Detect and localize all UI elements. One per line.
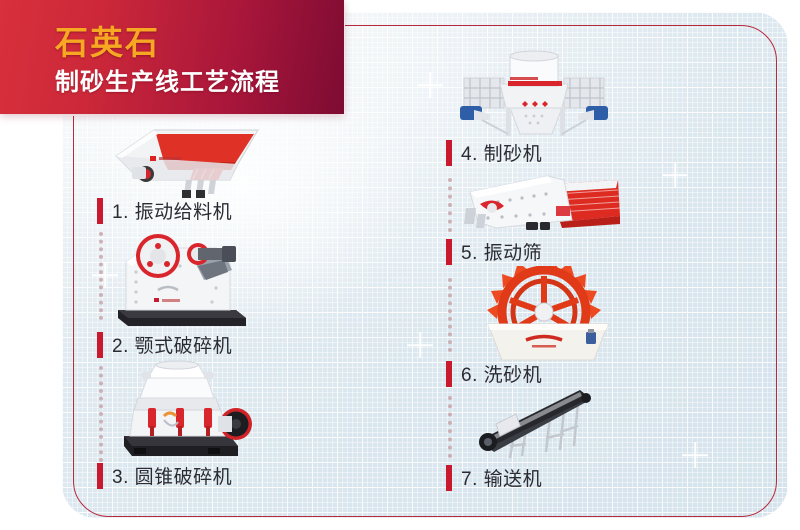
flow-step-label: 7. 输送机	[461, 464, 542, 491]
connector-line-left-2	[99, 366, 107, 462]
step-marker-icon	[446, 140, 452, 166]
machine-image-sand-washer	[482, 266, 614, 362]
step-marker-icon	[97, 332, 103, 358]
connector-line-left-1	[99, 232, 107, 320]
step-marker-icon	[446, 361, 452, 387]
step-marker-icon	[446, 239, 452, 265]
flow-step-6[interactable]: 6. 洗砂机	[446, 360, 542, 387]
machine-image-sand-making-machine	[452, 44, 614, 140]
banner-subtitle: 制砂生产线工艺流程	[55, 62, 280, 97]
infographic-canvas: 石英石 制砂生产线工艺流程 1. 振动给料机 2. 颚式破碎机 3. 圆锥破碎机…	[0, 0, 800, 530]
flow-step-label: 5. 振动筛	[461, 238, 542, 265]
flow-step-5[interactable]: 5. 振动筛	[446, 238, 542, 265]
connector-line-right-3	[448, 396, 456, 458]
flow-step-1[interactable]: 1. 振动给料机	[97, 197, 232, 224]
banner-title: 石英石	[55, 16, 160, 64]
flow-step-label: 2. 颚式破碎机	[112, 331, 232, 358]
step-marker-icon	[97, 198, 103, 224]
machine-image-cone-crusher	[112, 358, 262, 462]
connector-line-right-2	[448, 278, 456, 352]
flow-step-3[interactable]: 3. 圆锥破碎机	[97, 462, 232, 489]
connector-line-right-1	[448, 178, 456, 232]
flow-step-label: 6. 洗砂机	[461, 360, 542, 387]
title-banner: 石英石 制砂生产线工艺流程	[0, 0, 344, 114]
flow-step-7[interactable]: 7. 输送机	[446, 464, 542, 491]
flow-step-4[interactable]: 4. 制砂机	[446, 139, 542, 166]
machine-image-vibrating-feeder	[98, 112, 278, 200]
flow-step-2[interactable]: 2. 颚式破碎机	[97, 331, 232, 358]
machine-image-belt-conveyor	[470, 388, 600, 460]
step-marker-icon	[97, 463, 103, 489]
flow-step-label: 4. 制砂机	[461, 139, 542, 166]
flow-step-label: 3. 圆锥破碎机	[112, 462, 232, 489]
machine-image-jaw-crusher	[112, 222, 257, 334]
flow-step-label: 1. 振动给料机	[112, 197, 232, 224]
step-marker-icon	[446, 465, 452, 491]
machine-image-vibrating-screen	[452, 166, 624, 234]
